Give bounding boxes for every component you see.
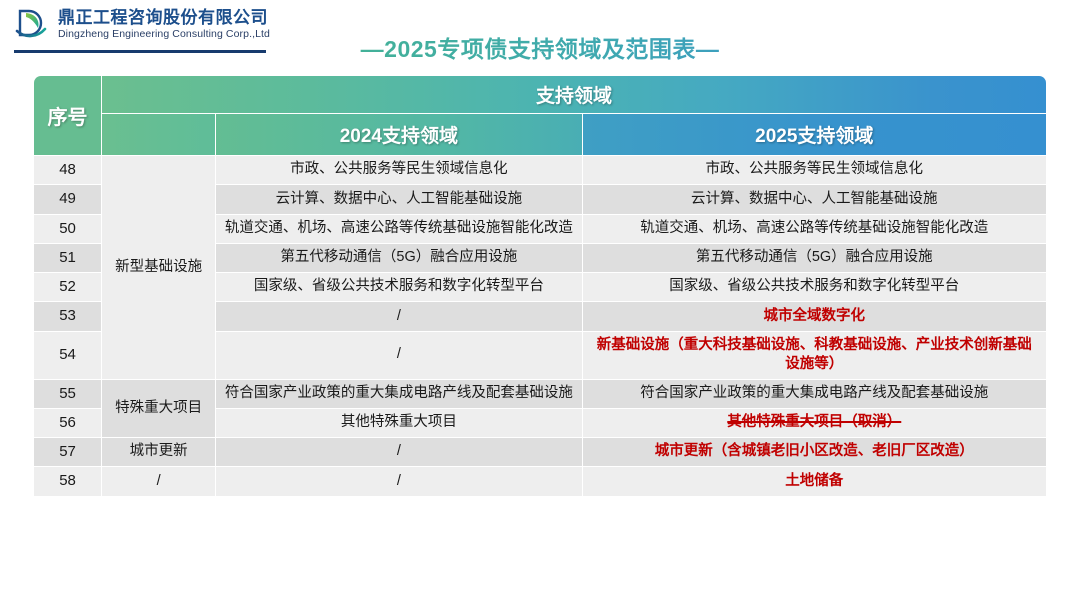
cell-2024-scope: 第五代移动通信（5G）融合应用设施 <box>216 244 581 272</box>
cell-row-number: 55 <box>34 380 101 408</box>
cell-row-number: 53 <box>34 302 101 330</box>
cell-2025-scope: 云计算、数据中心、人工智能基础设施 <box>583 185 1046 213</box>
table-body: 48新型基础设施市政、公共服务等民生领域信息化市政、公共服务等民生领域信息化49… <box>34 156 1046 496</box>
cell-2024-scope: 轨道交通、机场、高速公路等传统基础设施智能化改造 <box>216 215 581 243</box>
cell-2024-scope: 市政、公共服务等民生领域信息化 <box>216 156 581 184</box>
cell-category: 新型基础设施 <box>102 156 215 379</box>
table-row: 48新型基础设施市政、公共服务等民生领域信息化市政、公共服务等民生领域信息化 <box>34 156 1046 184</box>
table-row: 58//土地储备 <box>34 467 1046 495</box>
cell-2025-scope: 轨道交通、机场、高速公路等传统基础设施智能化改造 <box>583 215 1046 243</box>
cell-2024-scope: 其他特殊重大项目 <box>216 409 581 437</box>
table-row: 55特殊重大项目符合国家产业政策的重大集成电路产线及配套基础设施符合国家产业政策… <box>34 380 1046 408</box>
header-cell-2024: 2024支持领域 <box>216 114 581 155</box>
cell-2025-scope: 土地储备 <box>583 467 1046 495</box>
support-scope-table: 序号 支持领域 2024支持领域 2025支持领域 48新型基础设施市政、公共服… <box>33 75 1047 497</box>
cell-row-number: 50 <box>34 215 101 243</box>
cell-row-number: 51 <box>34 244 101 272</box>
cell-row-number: 56 <box>34 409 101 437</box>
cell-2025-scope: 其他特殊重大项目（取消） <box>583 409 1046 437</box>
support-scope-table-wrap: 序号 支持领域 2024支持领域 2025支持领域 48新型基础设施市政、公共服… <box>33 75 1047 497</box>
header-cell-category-blank <box>102 114 215 155</box>
cell-2024-scope: / <box>216 332 581 379</box>
cell-row-number: 49 <box>34 185 101 213</box>
cell-2024-scope: 云计算、数据中心、人工智能基础设施 <box>216 185 581 213</box>
header-cell-group: 支持领域 <box>102 76 1046 113</box>
cell-2025-scope: 城市更新（含城镇老旧小区改造、老旧厂区改造） <box>583 438 1046 466</box>
cell-2025-scope: 城市全域数字化 <box>583 302 1046 330</box>
table-header-row-2: 2024支持领域 2025支持领域 <box>34 114 1046 155</box>
page-header: 鼎正工程咨询股份有限公司 Dingzheng Engineering Consu… <box>0 0 1080 70</box>
table-header-row-1: 序号 支持领域 <box>34 76 1046 113</box>
cell-row-number: 58 <box>34 467 101 495</box>
cell-category: 城市更新 <box>102 438 215 466</box>
cell-2025-scope: 国家级、省级公共技术服务和数字化转型平台 <box>583 273 1046 301</box>
table-row: 57城市更新/城市更新（含城镇老旧小区改造、老旧厂区改造） <box>34 438 1046 466</box>
table-head: 序号 支持领域 2024支持领域 2025支持领域 <box>34 76 1046 155</box>
cell-row-number: 52 <box>34 273 101 301</box>
cell-2024-scope: / <box>216 302 581 330</box>
cell-row-number: 48 <box>34 156 101 184</box>
cell-2024-scope: 国家级、省级公共技术服务和数字化转型平台 <box>216 273 581 301</box>
cell-2025-scope: 市政、公共服务等民生领域信息化 <box>583 156 1046 184</box>
header-cell-no: 序号 <box>34 76 101 155</box>
cell-category: / <box>102 467 215 495</box>
cell-2024-scope: / <box>216 467 581 495</box>
cell-2025-scope: 符合国家产业政策的重大集成电路产线及配套基础设施 <box>583 380 1046 408</box>
cell-category: 特殊重大项目 <box>102 380 215 438</box>
page-title: —2025专项债支持领域及范围表— <box>0 30 1080 64</box>
cell-2025-scope: 新基础设施（重大科技基础设施、科教基础设施、产业技术创新基础设施等） <box>583 332 1046 379</box>
cell-2024-scope: 符合国家产业政策的重大集成电路产线及配套基础设施 <box>216 380 581 408</box>
cell-row-number: 57 <box>34 438 101 466</box>
strikethrough-text: 其他特殊重大项目（取消） <box>727 414 901 430</box>
cell-2025-scope: 第五代移动通信（5G）融合应用设施 <box>583 244 1046 272</box>
header-cell-2025: 2025支持领域 <box>583 114 1046 155</box>
cell-2024-scope: / <box>216 438 581 466</box>
cell-row-number: 54 <box>34 332 101 379</box>
company-name-cn: 鼎正工程咨询股份有限公司 <box>58 8 270 28</box>
